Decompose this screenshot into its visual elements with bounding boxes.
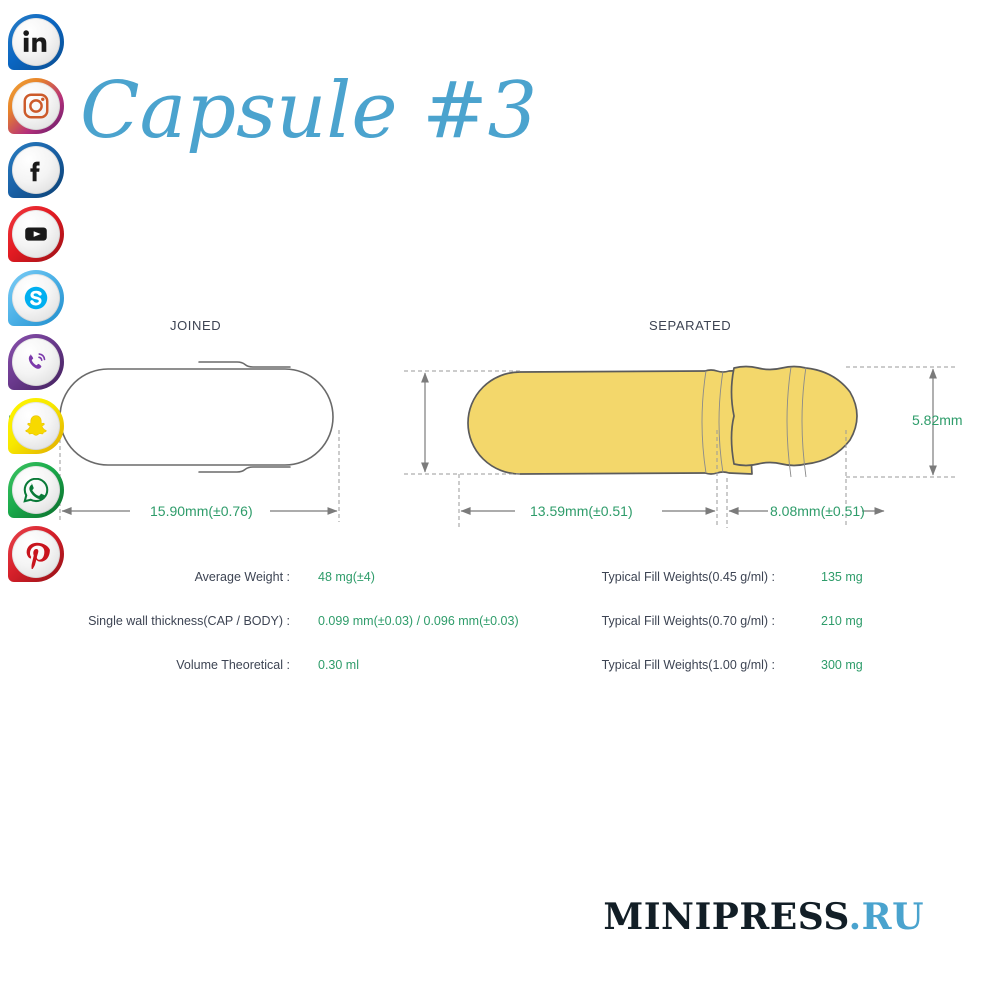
snapchat-ring: [12, 402, 60, 450]
spec-row: Average Weight : 48 mg(±4): [30, 570, 550, 614]
viber-ring: [12, 338, 60, 386]
spec-row: Typical Fill Weights(0.45 g/ml) : 135 mg: [560, 570, 980, 614]
body-length-label: 13.59mm(±0.51): [530, 503, 633, 519]
pinterest-ring: [12, 530, 60, 578]
youtube-icon: [21, 219, 51, 249]
spec-label: Typical Fill Weights(1.00 g/ml) :: [560, 658, 775, 672]
instagram-icon: [21, 91, 51, 121]
whatsapp-icon: [21, 475, 51, 505]
specs-left-column: Average Weight : 48 mg(±4) Single wall t…: [30, 570, 550, 702]
spec-label: Typical Fill Weights(0.45 g/ml) :: [560, 570, 775, 584]
spec-label: Volume Theoretical :: [30, 658, 290, 672]
snapchat-icon: [21, 411, 51, 441]
skype-ring: [12, 274, 60, 322]
spec-value: 210 mg: [821, 614, 863, 628]
linkedin-icon: [21, 27, 51, 57]
social-link-facebook[interactable]: [8, 142, 64, 198]
cap-length-label: 8.08mm(±0.51): [770, 503, 865, 519]
spec-value: 0.30 ml: [318, 658, 359, 672]
viber-icon: [21, 347, 51, 377]
logo-brand-text: MINIPRESS: [603, 896, 848, 938]
spec-row: Typical Fill Weights(1.00 g/ml) : 300 mg: [560, 658, 980, 702]
social-link-instagram[interactable]: [8, 78, 64, 134]
spec-value: 135 mg: [821, 570, 863, 584]
social-link-pinterest[interactable]: [8, 526, 64, 582]
spec-value: 0.099 mm(±0.03) / 0.096 mm(±0.03): [318, 614, 519, 628]
whatsapp-ring: [12, 466, 60, 514]
spec-row: Single wall thickness(CAP / BODY) : 0.09…: [30, 614, 550, 658]
cap-height-label: 5.82mm: [912, 412, 963, 428]
capsule-body-shape: [468, 370, 754, 474]
social-link-skype[interactable]: [8, 270, 64, 326]
joined-length-label: 15.90mm(±0.76): [150, 503, 253, 519]
social-link-linkedin[interactable]: [8, 14, 64, 70]
minipress-logo: MINIPRESS.RU: [603, 896, 924, 938]
capsule-cap-shape: [732, 367, 858, 478]
spec-value: 48 mg(±4): [318, 570, 375, 584]
logo-tld-text: .RU: [849, 896, 924, 938]
spec-label: Single wall thickness(CAP / BODY) :: [30, 614, 290, 628]
spec-value: 300 mg: [821, 658, 863, 672]
skype-icon: [21, 283, 51, 313]
spec-label: Typical Fill Weights(0.70 g/ml) :: [560, 614, 775, 628]
facebook-icon: [21, 155, 51, 185]
social-share-sidebar: [8, 14, 72, 590]
social-link-youtube[interactable]: [8, 206, 64, 262]
social-link-viber[interactable]: [8, 334, 64, 390]
youtube-ring: [12, 210, 60, 258]
pinterest-icon: [21, 539, 51, 569]
spec-row: Volume Theoretical : 0.30 ml: [30, 658, 550, 702]
facebook-ring: [12, 146, 60, 194]
social-link-whatsapp[interactable]: [8, 462, 64, 518]
capsule-diagram: JOINED SEPARATED: [0, 300, 1000, 550]
page-title: Capsule #3: [80, 72, 537, 150]
linkedin-ring: [12, 18, 60, 66]
specs-right-column: Typical Fill Weights(0.45 g/ml) : 135 mg…: [560, 570, 980, 702]
social-link-snapchat[interactable]: [8, 398, 64, 454]
spec-row: Typical Fill Weights(0.70 g/ml) : 210 mg: [560, 614, 980, 658]
joined-capsule-outline: [60, 362, 333, 472]
instagram-ring: [12, 82, 60, 130]
